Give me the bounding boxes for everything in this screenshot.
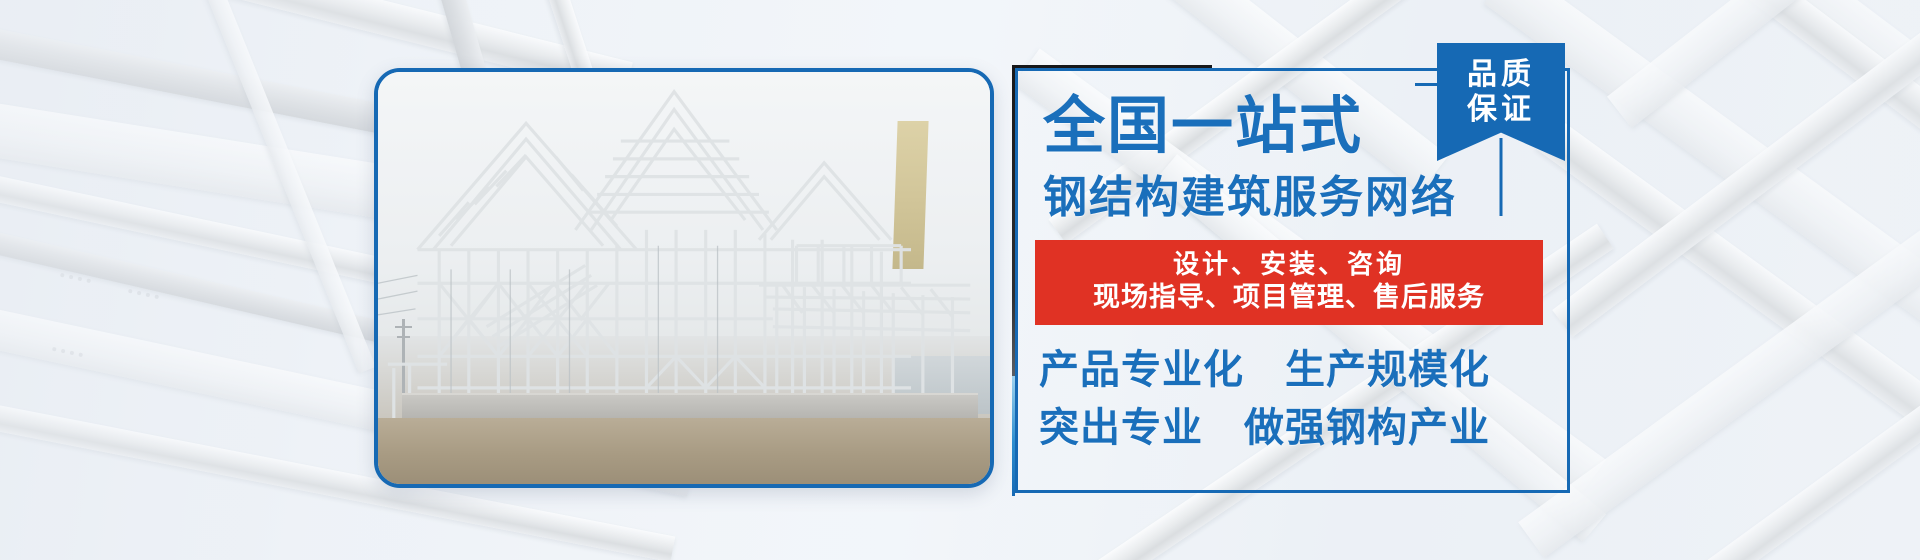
badge-connector-tick: [1415, 83, 1439, 86]
decorative-frame-blue-left: [1012, 376, 1015, 496]
services-line-1: 设计、安装、咨询: [1035, 249, 1543, 281]
photo-ground: [378, 418, 990, 484]
project-photo-card: [374, 68, 994, 488]
promo-banner: 全国一站式 钢结构建筑服务网络 设计、安装、咨询 现场指导、项目管理、售后服务 …: [0, 0, 1920, 560]
badge-label: 品质 保证: [1437, 57, 1565, 128]
slogan-line-2: 突出专业 做强钢构产业: [1039, 408, 1490, 448]
badge-connector-stem: [1500, 138, 1503, 216]
services-line-2: 现场指导、项目管理、售后服务: [1035, 281, 1543, 314]
quality-guarantee-badge: 品质 保证: [1437, 43, 1565, 161]
steel-frame-house-photo: [378, 72, 990, 484]
badge-label-line-2: 保证: [1437, 92, 1565, 127]
page-subtitle: 钢结构建筑服务网络: [1043, 176, 1457, 220]
badge-label-line-1: 品质: [1437, 57, 1565, 92]
page-title: 全国一站式: [1043, 96, 1363, 158]
decorative-frame-dark-top: [1012, 65, 1212, 68]
slogan-line-1: 产品专业化 生产规模化: [1039, 350, 1490, 390]
services-highlight-box: 设计、安装、咨询 现场指导、项目管理、售后服务: [1035, 240, 1543, 325]
